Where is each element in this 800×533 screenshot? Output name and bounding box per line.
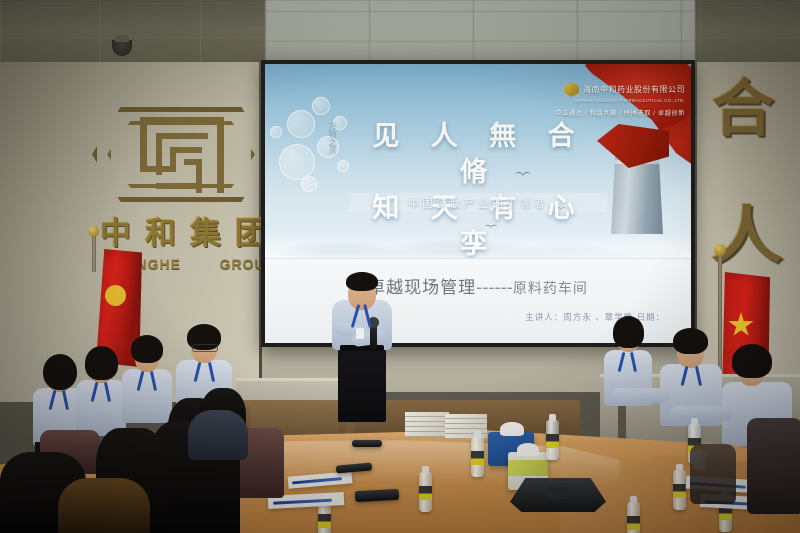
- party-flag-pole: [92, 236, 96, 272]
- employee-lanyard: [604, 318, 652, 422]
- wall-big-char-he: 合: [712, 78, 774, 140]
- slide-logo-en: HAINAN ZHONGHE PHARMACEUTICAL CO.,LTD.: [553, 98, 685, 103]
- office-chair: [690, 444, 736, 504]
- slide-tagline: 中正通达 / 和谐共赢 / 拼搏进取 / 卓越创新: [553, 108, 685, 117]
- office-chair: [747, 418, 800, 514]
- projected-slide: 万物之灵 见 人 無 合 脩 知 天 有 心 孪 中国多肽产业的引领者 海南中和…: [265, 64, 691, 343]
- tissue-sheet: [500, 422, 524, 436]
- slide-title: 卓越现场管理------原料药车间: [265, 273, 691, 298]
- slide-company-logo-block: 海南中和药业股份有限公司 HAINAN ZHONGHE PHARMACEUTIC…: [553, 82, 685, 117]
- water-bottle: [627, 502, 640, 533]
- slide-title-sub: 原料药车间: [513, 281, 588, 297]
- wall-company-name-cn: 中 和 集 团: [100, 213, 266, 255]
- wall-big-char-ren: 人: [711, 205, 782, 267]
- wall-char-2: 集: [190, 219, 221, 250]
- employee-person: [604, 318, 652, 422]
- smartphone: [352, 440, 382, 447]
- presenter-lanyard: [332, 272, 392, 424]
- water-bottle: [419, 472, 432, 512]
- pen-icon: [292, 477, 342, 484]
- audience-shoulders: [188, 410, 248, 460]
- slide-calligraphy: 见 人 無 合 脩 知 天 有 心 孪: [349, 119, 609, 263]
- wall-char-1: 和: [145, 219, 176, 250]
- presenter-badge: [356, 328, 364, 339]
- company-logo-icon: [564, 82, 579, 97]
- water-bottle: [673, 470, 686, 510]
- audience-person-silhouette: [58, 478, 150, 533]
- meeting-room-photo: 中 和 集 团 ZHONGHE GROUP 合 人: [0, 0, 800, 533]
- smartphone: [355, 489, 400, 502]
- maze-motif-icon: [140, 117, 224, 193]
- water-bottle: [546, 420, 559, 460]
- employee-arm: [612, 388, 670, 403]
- slide-subtitle-bar: 中国多肽产业的引领者: [349, 193, 607, 212]
- slide-seal-text: 万物之灵: [323, 122, 337, 154]
- water-bottle: [471, 437, 484, 477]
- wall-char-0: 中: [100, 219, 131, 250]
- slide-upper-artwork: 万物之灵 见 人 無 合 脩 知 天 有 心 孪 中国多肽产业的引领者 海南中和…: [265, 64, 691, 259]
- slide-title-dash: ------: [476, 278, 513, 298]
- calligraphy-line-1: 见 人 無 合 脩: [349, 119, 609, 191]
- pen-icon: [273, 498, 332, 504]
- presenter-person: [332, 272, 392, 424]
- hexagonal-lattice-emblem: [92, 107, 270, 202]
- projector-screen-frame: 万物之灵 见 人 無 合 脩 知 天 有 心 孪 中国多肽产业的引领者 海南中和…: [261, 60, 695, 347]
- employee-hair: [732, 344, 772, 378]
- employee-arm: [670, 406, 732, 421]
- slide-subtitle: 中国多肽产业的引领者: [408, 195, 548, 211]
- slide-logo-cn: 海南中和药业股份有限公司: [583, 84, 685, 95]
- tissue-sheet: [517, 443, 539, 456]
- conference-speakerphone: [510, 478, 606, 512]
